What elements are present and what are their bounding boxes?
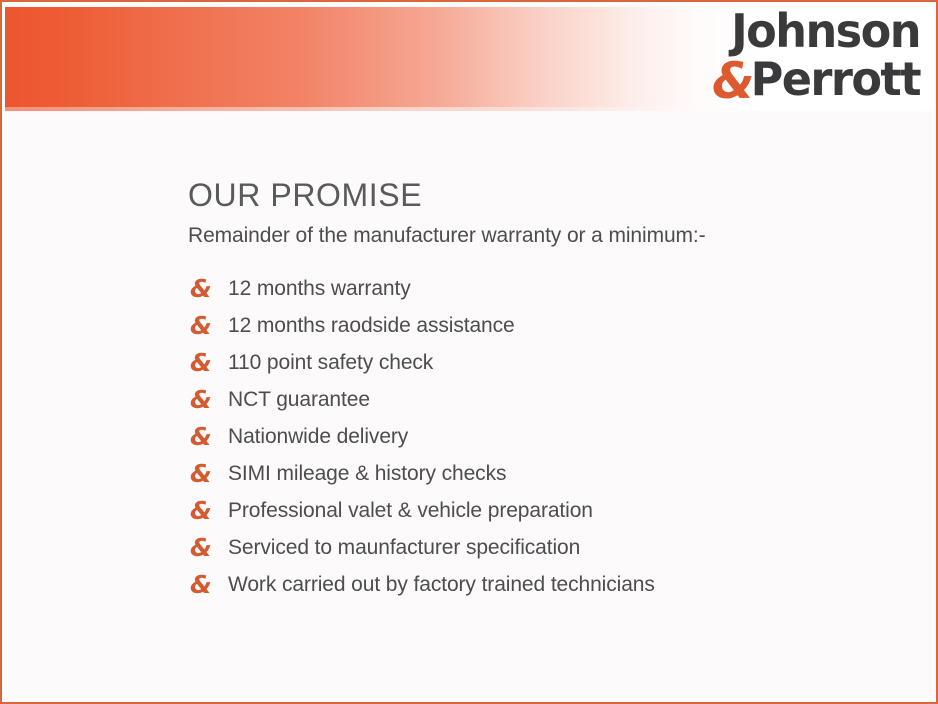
page-title: OUR PROMISE bbox=[188, 178, 916, 213]
list-item: & 110 point safety check bbox=[188, 344, 916, 381]
list-item-label: NCT guarantee bbox=[228, 388, 916, 412]
list-item: & Professional valet & vehicle preparati… bbox=[188, 492, 916, 529]
ampersand-bullet-icon: & bbox=[188, 424, 228, 449]
list-item: & Nationwide delivery bbox=[188, 418, 916, 455]
promise-list: & 12 months warranty & 12 months raodsid… bbox=[188, 270, 916, 603]
ampersand-bullet-icon: & bbox=[188, 461, 228, 486]
list-item-label: Nationwide delivery bbox=[228, 425, 916, 449]
list-item-label: Professional valet & vehicle preparation bbox=[228, 499, 916, 523]
ampersand-bullet-icon: & bbox=[188, 313, 228, 338]
logo-wordmark-perrott-line: &Perrott bbox=[695, 56, 920, 106]
list-item-label: 12 months warranty bbox=[228, 277, 916, 301]
list-item: & 12 months warranty bbox=[188, 270, 916, 307]
list-item-label: Work carried out by factory trained tech… bbox=[228, 573, 916, 597]
list-item-label: 110 point safety check bbox=[228, 351, 916, 375]
ampersand-bullet-icon: & bbox=[188, 535, 228, 560]
list-item: & Serviced to maunfacturer specification bbox=[188, 529, 916, 566]
list-item: & Work carried out by factory trained te… bbox=[188, 566, 916, 603]
promise-content: OUR PROMISE Remainder of the manufacture… bbox=[188, 178, 916, 603]
list-item-label: 12 months raodside assistance bbox=[228, 314, 916, 338]
list-item: & NCT guarantee bbox=[188, 381, 916, 418]
logo-wordmark-johnson: Johnson bbox=[695, 8, 920, 54]
ampersand-bullet-icon: & bbox=[188, 572, 228, 597]
johnson-perrott-logo: Johnson &Perrott bbox=[688, 6, 920, 112]
ampersand-icon: & bbox=[712, 52, 750, 110]
list-item-label: SIMI mileage & history checks bbox=[228, 462, 916, 486]
promise-slide: Johnson &Perrott OUR PROMISE Remainder o… bbox=[0, 0, 938, 704]
ampersand-bullet-icon: & bbox=[188, 498, 228, 523]
ampersand-bullet-icon: & bbox=[188, 350, 228, 375]
logo-wordmark-perrott: Perrott bbox=[751, 52, 920, 106]
ampersand-bullet-icon: & bbox=[188, 276, 228, 301]
ampersand-bullet-icon: & bbox=[188, 387, 228, 412]
page-subtitle: Remainder of the manufacturer warranty o… bbox=[188, 223, 916, 248]
list-item: & 12 months raodside assistance bbox=[188, 307, 916, 344]
list-item-label: Serviced to maunfacturer specification bbox=[228, 536, 916, 560]
list-item: & SIMI mileage & history checks bbox=[188, 455, 916, 492]
